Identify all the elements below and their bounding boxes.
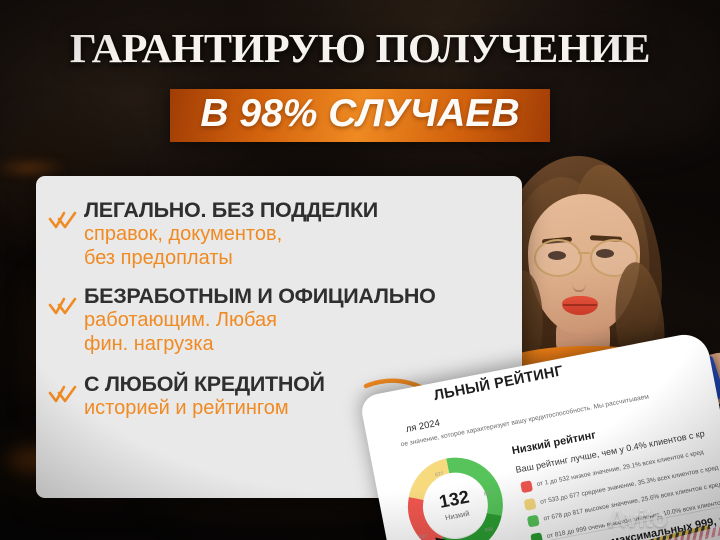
background-warm-glow bbox=[0, 160, 65, 176]
legend-color-swatch bbox=[520, 480, 533, 493]
double-check-icon bbox=[48, 384, 78, 406]
gauge-tick-left: 532 bbox=[418, 533, 427, 540]
headline-primary: ГАРАНТИРУЮ ПОЛУЧЕНИЕ bbox=[0, 28, 720, 69]
double-check-icon bbox=[48, 296, 78, 318]
document-sheet: ЛЬНЫЙ РЕЙТИНГ ля 2024 ое значение, котор… bbox=[359, 330, 720, 540]
benefit-title: БЕЗРАБОТНЫМ И ОФИЦИАЛЬНО bbox=[84, 286, 526, 308]
glasses-bridge bbox=[578, 252, 590, 254]
document-title: ЛЬНЫЙ РЕЙТИНГ bbox=[433, 363, 565, 404]
list-item-text: БЕЗРАБОТНЫМ И ОФИЦИАЛЬНО работающим. Люб… bbox=[84, 286, 526, 357]
document-date: ля 2024 bbox=[405, 418, 441, 435]
benefit-subtitle-line1: справок, документов, bbox=[84, 223, 526, 246]
benefit-title: ЛЕГАЛЬНО. БЕЗ ПОДДЕЛКИ bbox=[84, 200, 526, 222]
list-item: ЛЕГАЛЬНО. БЕЗ ПОДДЕЛКИ справок, документ… bbox=[46, 200, 526, 271]
double-check-icon bbox=[48, 210, 78, 232]
list-item: БЕЗРАБОТНЫМ И ОФИЦИАЛЬНО работающим. Люб… bbox=[46, 286, 526, 357]
legend-color-swatch bbox=[527, 515, 540, 528]
list-item-text: ЛЕГАЛЬНО. БЕЗ ПОДДЕЛКИ справок, документ… bbox=[84, 200, 526, 271]
legend-color-swatch bbox=[530, 532, 543, 540]
benefit-subtitle-line2: без предоплаты bbox=[84, 247, 526, 270]
headline-badge-wrap: В 98% СЛУЧАЕВ bbox=[0, 89, 720, 142]
promo-banner: ГАРАНТИРУЮ ПОЛУЧЕНИЕ В 98% СЛУЧАЕВ bbox=[0, 0, 720, 540]
legend-color-swatch bbox=[523, 497, 536, 510]
lip-line bbox=[563, 304, 597, 306]
rating-gauge: 132 Низкий 677 818 999 532 bbox=[394, 444, 516, 540]
headline-badge: В 98% СЛУЧАЕВ bbox=[170, 89, 549, 142]
credit-rating-document: ЛЬНЫЙ РЕЙТИНГ ля 2024 ое значение, котор… bbox=[352, 352, 720, 540]
document-content: ЛЬНЫЙ РЕЙТИНГ ля 2024 ое значение, котор… bbox=[359, 330, 720, 540]
benefit-subtitle-line1: работающим. Любая bbox=[84, 309, 526, 332]
nose bbox=[572, 268, 586, 292]
